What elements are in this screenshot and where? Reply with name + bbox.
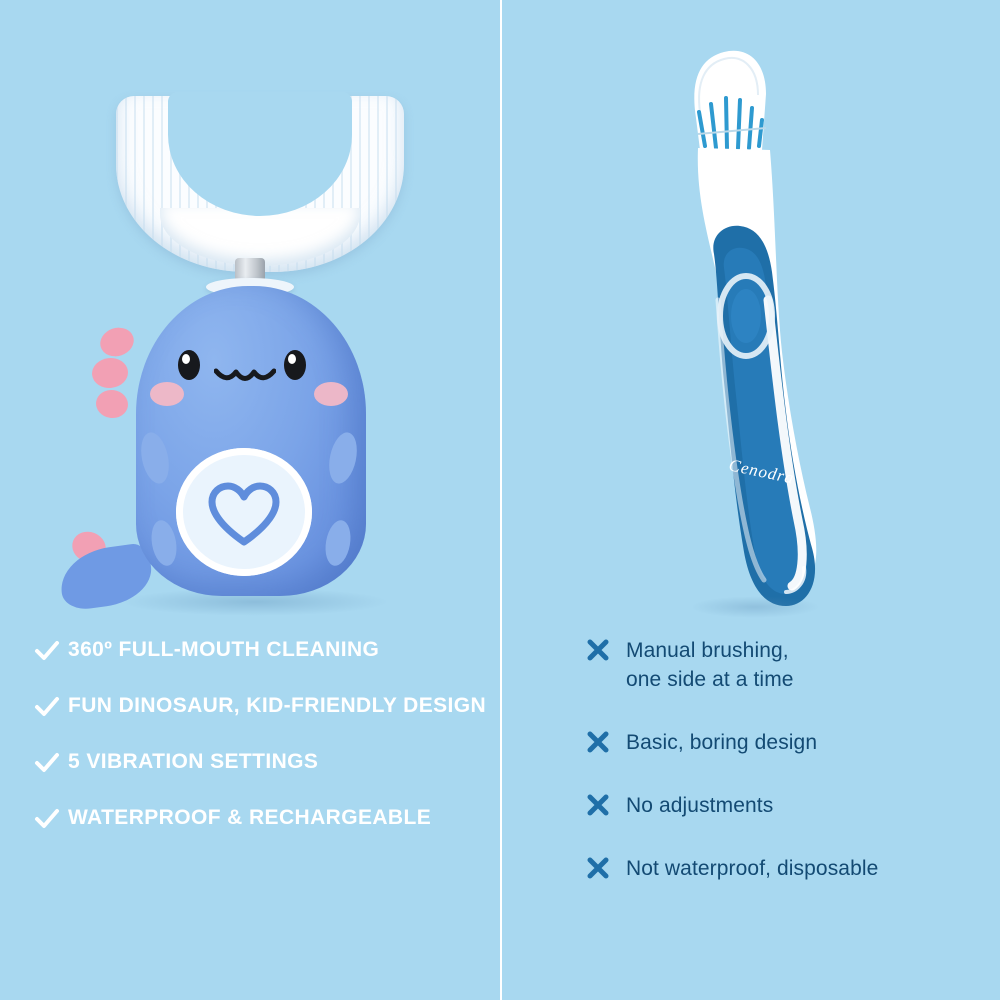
dino-cheek: [314, 382, 348, 406]
list-item: Basic, boring design: [500, 728, 1000, 757]
comparison-page: 360º FULL-MOUTH CLEANING FUN DINOSAUR, K…: [0, 0, 1000, 1000]
feature-label: Basic, boring design: [626, 728, 817, 757]
left-feature-list: 360º FULL-MOUTH CLEANING FUN DINOSAUR, K…: [0, 636, 500, 860]
list-item: Manual brushing, one side at a time: [500, 636, 1000, 694]
list-item: Not waterproof, disposable: [500, 854, 1000, 883]
dino-mouth-icon: [214, 368, 276, 394]
list-item: 360º FULL-MOUTH CLEANING: [0, 636, 500, 664]
list-item: WATERPROOF & RECHARGEABLE: [0, 804, 500, 832]
feature-label: Manual brushing, one side at a time: [626, 636, 794, 694]
left-column: 360º FULL-MOUTH CLEANING FUN DINOSAUR, K…: [0, 0, 500, 1000]
cross-icon: [586, 638, 626, 662]
left-product-hero: [0, 0, 500, 630]
dino-eye-icon: [284, 350, 306, 380]
bristles-icon: [694, 51, 766, 150]
right-product-hero: Cenodra: [500, 0, 1000, 630]
cross-icon: [586, 730, 626, 754]
check-icon: [34, 806, 68, 832]
list-item: FUN DINOSAUR, KID-FRIENDLY DESIGN: [0, 692, 500, 720]
feature-label: WATERPROOF & RECHARGEABLE: [68, 804, 431, 832]
dino-spike-icon: [97, 323, 138, 360]
cross-icon: [586, 856, 626, 880]
feature-label: 5 VIBRATION SETTINGS: [68, 748, 318, 776]
check-icon: [34, 750, 68, 776]
u-shaped-brush-head-icon: [116, 96, 404, 272]
check-icon: [34, 638, 68, 664]
feature-label: FUN DINOSAUR, KID-FRIENDLY DESIGN: [68, 692, 486, 720]
dino-spike-icon: [91, 356, 130, 390]
dino-spike-icon: [94, 388, 130, 420]
dino-cheek: [150, 382, 184, 406]
kids-electric-toothbrush-illustration: [0, 0, 500, 630]
list-item: 5 VIBRATION SETTINGS: [0, 748, 500, 776]
dino-eye-icon: [178, 350, 200, 380]
feature-label: Not waterproof, disposable: [626, 854, 878, 883]
right-feature-list: Manual brushing, one side at a time Basi…: [500, 636, 1000, 917]
right-column: Cenodra Manual brushing, one side at a t…: [500, 0, 1000, 1000]
cross-icon: [586, 793, 626, 817]
check-icon: [34, 694, 68, 720]
heart-icon: [208, 482, 280, 546]
feature-label: No adjustments: [626, 791, 773, 820]
feature-label: 360º FULL-MOUTH CLEANING: [68, 636, 379, 664]
list-item: No adjustments: [500, 791, 1000, 820]
manual-toothbrush-illustration: Cenodra: [500, 0, 1000, 630]
product-shadow: [690, 596, 820, 618]
